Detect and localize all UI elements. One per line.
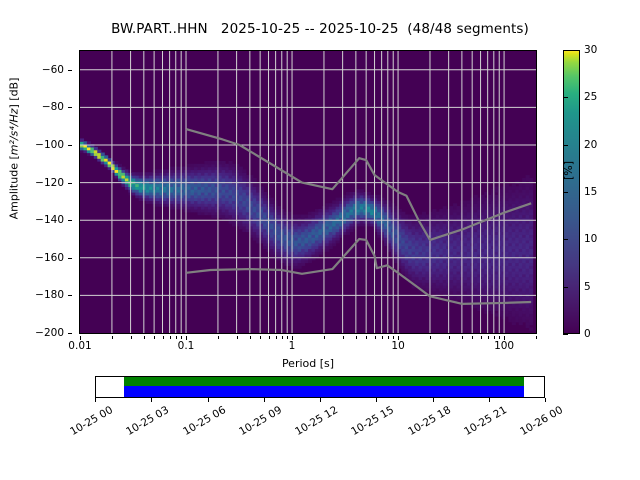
colorbar-tick-mark bbox=[563, 97, 568, 98]
coverage-tick-mark bbox=[433, 398, 434, 402]
coverage-tick-mark bbox=[151, 398, 152, 402]
y-tick-mark bbox=[68, 258, 72, 259]
x-tick-mark bbox=[181, 336, 182, 339]
coverage-tick-mark bbox=[545, 398, 546, 402]
ppsd-canvas bbox=[80, 51, 536, 333]
x-tick-mark bbox=[481, 336, 482, 339]
x-tick-mark bbox=[282, 336, 283, 339]
coverage-tick-label: 10-25 03 bbox=[117, 404, 171, 442]
colorbar-tick-mark bbox=[563, 287, 568, 288]
y-tick-mark bbox=[68, 145, 72, 146]
colorbar-tick-label: 25 bbox=[584, 91, 597, 103]
x-tick-mark bbox=[218, 336, 219, 339]
x-axis-ticklabels: 0.010.1110100 bbox=[79, 336, 537, 356]
x-tick-mark bbox=[430, 336, 431, 339]
coverage-available-band bbox=[124, 377, 524, 386]
x-tick-mark bbox=[269, 336, 270, 339]
y-tick-mark bbox=[68, 107, 72, 108]
y-axis-title: Amplitude [m²/s⁴/Hz] [dB] bbox=[8, 7, 21, 291]
coverage-tick-label: 10-25 12 bbox=[286, 404, 340, 442]
x-tick-mark bbox=[112, 336, 113, 339]
x-tick-mark bbox=[488, 336, 489, 339]
x-tick-mark bbox=[536, 336, 537, 339]
y-tick-mark bbox=[68, 183, 72, 184]
coverage-used-band bbox=[124, 386, 524, 397]
coverage-tick-mark bbox=[489, 398, 490, 402]
y-tick-mark bbox=[68, 333, 72, 334]
coverage-tick-mark bbox=[320, 398, 321, 402]
x-tick-mark bbox=[499, 336, 500, 339]
colorbar-title: [%] bbox=[562, 161, 575, 180]
x-tick-mark bbox=[324, 336, 325, 339]
colorbar-tick-label: 15 bbox=[584, 186, 597, 198]
y-tick-mark bbox=[68, 70, 72, 71]
colorbar-tick-mark bbox=[563, 192, 568, 193]
coverage-tick-label: 10-25 15 bbox=[342, 404, 396, 442]
x-tick-mark bbox=[393, 336, 394, 339]
coverage-tick-label: 10-25 18 bbox=[398, 404, 452, 442]
x-tick-mark bbox=[287, 336, 288, 339]
x-tick-label: 0.01 bbox=[68, 340, 91, 352]
coverage-tick-mark bbox=[264, 398, 265, 402]
x-axis-title: Period [s] bbox=[79, 357, 537, 370]
x-tick-mark bbox=[388, 336, 389, 339]
x-tick-mark bbox=[472, 336, 473, 339]
y-axis-title-prefix: Amplitude [ bbox=[8, 155, 21, 219]
x-tick-mark bbox=[382, 336, 383, 339]
colorbar-tick-label: 5 bbox=[584, 281, 591, 293]
x-tick-mark bbox=[250, 336, 251, 339]
coverage-bar[interactable] bbox=[95, 376, 545, 398]
x-tick-mark bbox=[462, 336, 463, 339]
x-tick-mark bbox=[449, 336, 450, 339]
y-tick-label: −200 bbox=[0, 327, 72, 339]
x-tick-mark bbox=[144, 336, 145, 339]
x-tick-mark bbox=[131, 336, 132, 339]
x-tick-mark bbox=[176, 336, 177, 339]
x-tick-label: 1 bbox=[289, 340, 296, 352]
colorbar-tick-label: 0 bbox=[584, 328, 591, 340]
coverage-tick-mark bbox=[376, 398, 377, 402]
colorbar-tick-label: 10 bbox=[584, 233, 597, 245]
x-tick-mark bbox=[375, 336, 376, 339]
x-tick-label: 100 bbox=[494, 340, 514, 352]
y-tick-mark bbox=[68, 220, 72, 221]
x-tick-mark bbox=[356, 336, 357, 339]
y-axis-title-math: m²/s⁴/Hz bbox=[8, 109, 21, 156]
x-tick-mark bbox=[276, 336, 277, 339]
page-title: BW.PART..HHN 2025-10-25 -- 2025-10-25 (4… bbox=[0, 21, 640, 37]
x-tick-label: 0.1 bbox=[178, 340, 195, 352]
ppsd-plot-area[interactable] bbox=[79, 50, 537, 334]
colorbar-tick-label: 30 bbox=[584, 44, 597, 56]
y-axis-title-suffix: ] [dB] bbox=[8, 78, 21, 109]
x-tick-mark bbox=[260, 336, 261, 339]
colorbar-tick-mark bbox=[563, 145, 568, 146]
colorbar-tick-mark bbox=[563, 334, 568, 335]
y-tick-label: −180 bbox=[0, 289, 72, 301]
noise-model-curves bbox=[80, 51, 536, 333]
coverage-tick-label: 10-25 21 bbox=[454, 404, 508, 442]
x-tick-mark bbox=[494, 336, 495, 339]
coverage-tick-label: 10-25 09 bbox=[229, 404, 283, 442]
coverage-tick-label: 10-25 00 bbox=[61, 404, 115, 442]
coverage-tick-mark bbox=[95, 398, 96, 402]
x-tick-mark bbox=[366, 336, 367, 339]
colorbar-tick-mark bbox=[563, 50, 568, 51]
x-tick-mark bbox=[343, 336, 344, 339]
coverage-tick-mark bbox=[208, 398, 209, 402]
colorbar-tick-label: 20 bbox=[584, 139, 597, 151]
x-tick-mark bbox=[154, 336, 155, 339]
coverage-tick-label: 10-26 00 bbox=[511, 404, 565, 442]
colorbar-tick-mark bbox=[563, 239, 568, 240]
x-tick-mark bbox=[237, 336, 238, 339]
x-tick-mark bbox=[163, 336, 164, 339]
ppsd-figure: BW.PART..HHN 2025-10-25 -- 2025-10-25 (4… bbox=[0, 0, 640, 480]
coverage-tick-label: 10-25 06 bbox=[173, 404, 227, 442]
x-tick-mark bbox=[170, 336, 171, 339]
y-tick-mark bbox=[68, 295, 72, 296]
x-tick-label: 10 bbox=[391, 340, 404, 352]
